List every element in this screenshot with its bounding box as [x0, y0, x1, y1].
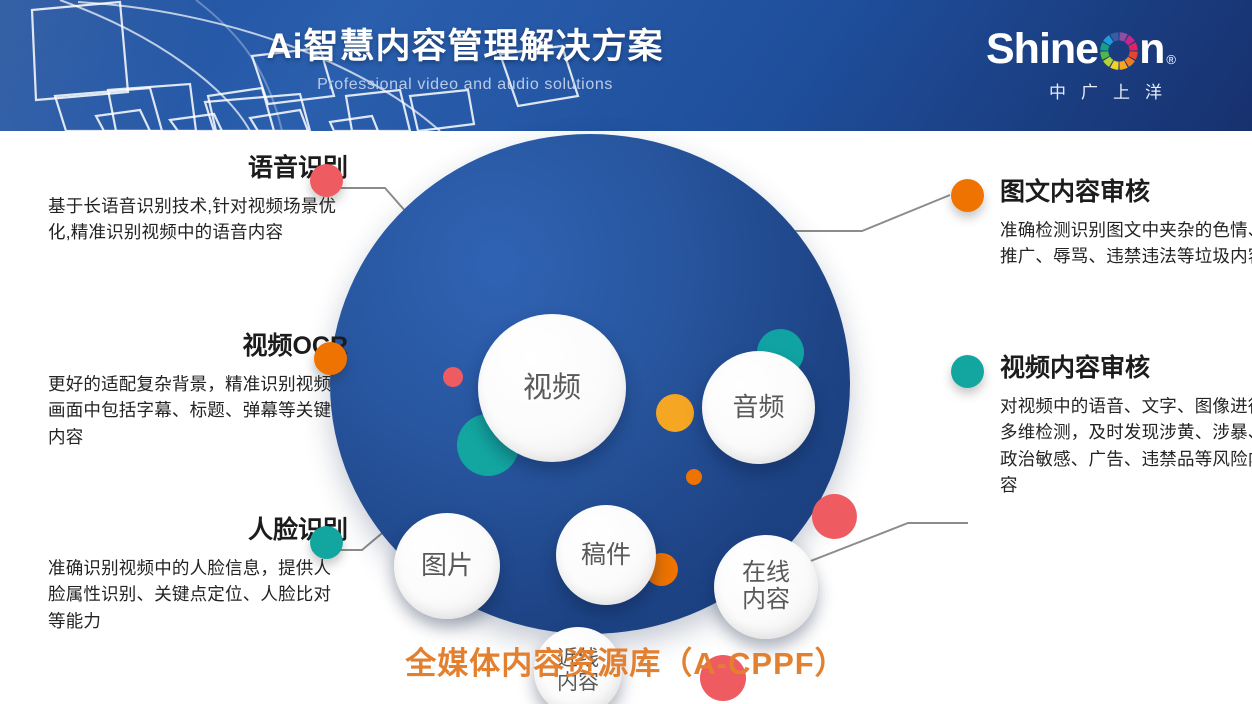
marker-dot-text-image-audit [951, 179, 984, 212]
registered-trademark-icon: ® [1166, 53, 1175, 66]
feature-body-face-recognition: 准确识别视频中的人脸信息，提供人脸属性识别、关键点定位、人脸比对等能力 [48, 555, 348, 635]
feature-body-video-ocr: 更好的适配复杂背景，精准识别视频画面中包括字幕、标题、弹幕等关键内容 [48, 371, 348, 451]
marker-dot-speech-recognition [310, 164, 343, 197]
page-subtitle: Professional video and audio solutions [0, 76, 930, 94]
accent-dot-orange-tiny [686, 469, 702, 485]
content-bubble-1[interactable]: 音频 [702, 351, 815, 464]
feature-body-text-image-audit: 准确检测识别图文中夹杂的色情、推广、辱骂、违禁违法等垃圾内容 [1000, 217, 1252, 270]
content-bubble-label: 稿件 [581, 541, 631, 569]
feature-body-speech-recognition: 基于长语音识别技术,针对视频场景优化,精准识别视频中的语音内容 [48, 193, 348, 246]
page-title: Ai智慧内容管理解决方案 [0, 28, 930, 67]
content-bubble-0[interactable]: 视频 [478, 314, 626, 462]
content-bubble-4[interactable]: 在线 内容 [714, 535, 818, 639]
marker-dot-face-recognition [310, 526, 343, 559]
logo-text-n: n [1139, 24, 1164, 74]
logo-text-shine: Shine [986, 24, 1098, 74]
content-bubble-label: 音频 [732, 393, 784, 422]
content-bubble-label: 在线 内容 [742, 560, 790, 614]
slide-root: Ai智慧内容管理解决方案 Professional video and audi… [0, 0, 1252, 704]
feature-video-content-audit[interactable]: 视频内容审核 对视频中的语音、文字、图像进行多维检测，及时发现涉黄、涉暴、政治敏… [1000, 355, 1252, 499]
content-bubble-2[interactable]: 图片 [394, 513, 500, 619]
content-bubble-label: 图片 [421, 551, 473, 580]
feature-text-image-audit[interactable]: 图文内容审核 准确检测识别图文中夹杂的色情、推广、辱骂、违禁违法等垃圾内容 [1000, 179, 1252, 270]
feature-title-video-content-audit: 视频内容审核 [1000, 355, 1252, 383]
content-bubble-label: 视频 [523, 372, 581, 404]
slide-header: Ai智慧内容管理解决方案 Professional video and audi… [0, 0, 1252, 131]
accent-dot-red-small [443, 367, 463, 387]
color-wheel-icon [1100, 31, 1138, 69]
accent-dot-orange-mid [656, 394, 694, 432]
brand-logo[interactable]: Shine n ® 中广上洋 [980, 24, 1230, 112]
logo-wordmark: Shine n ® [980, 24, 1230, 74]
feature-title-speech-recognition: 语音识别 [48, 155, 348, 183]
feature-title-text-image-audit: 图文内容审核 [1000, 179, 1252, 207]
feature-title-face-recognition: 人脸识别 [48, 517, 348, 545]
feature-speech-recognition[interactable]: 语音识别 基于长语音识别技术,针对视频场景优化,精准识别视频中的语音内容 [48, 155, 348, 246]
feature-body-video-content-audit: 对视频中的语音、文字、图像进行多维检测，及时发现涉黄、涉暴、政治敏感、广告、违禁… [1000, 393, 1252, 499]
logo-chinese-name: 中广上洋 [980, 78, 1230, 103]
header-title-block: Ai智慧内容管理解决方案 Professional video and audi… [0, 28, 930, 94]
feature-face-recognition[interactable]: 人脸识别 准确识别视频中的人脸信息，提供人脸属性识别、关键点定位、人脸比对等能力 [48, 517, 348, 634]
marker-dot-video-ocr [314, 342, 347, 375]
accent-dot-red-online [812, 494, 857, 539]
marker-dot-video-content-audit [951, 355, 984, 388]
feature-title-video-ocr: 视频OCR [48, 333, 348, 361]
footer-caption: 全媒体内容资源库（A-CPPF） [0, 638, 1252, 683]
feature-video-ocr[interactable]: 视频OCR 更好的适配复杂背景，精准识别视频画面中包括字幕、标题、弹幕等关键内容 [48, 333, 348, 450]
diagram-stage: 视频音频图片稿件在线 内容近线 内容 语音识别 基于长语音识别技术,针对视频场景… [0, 131, 1252, 704]
content-bubble-3[interactable]: 稿件 [556, 505, 656, 605]
